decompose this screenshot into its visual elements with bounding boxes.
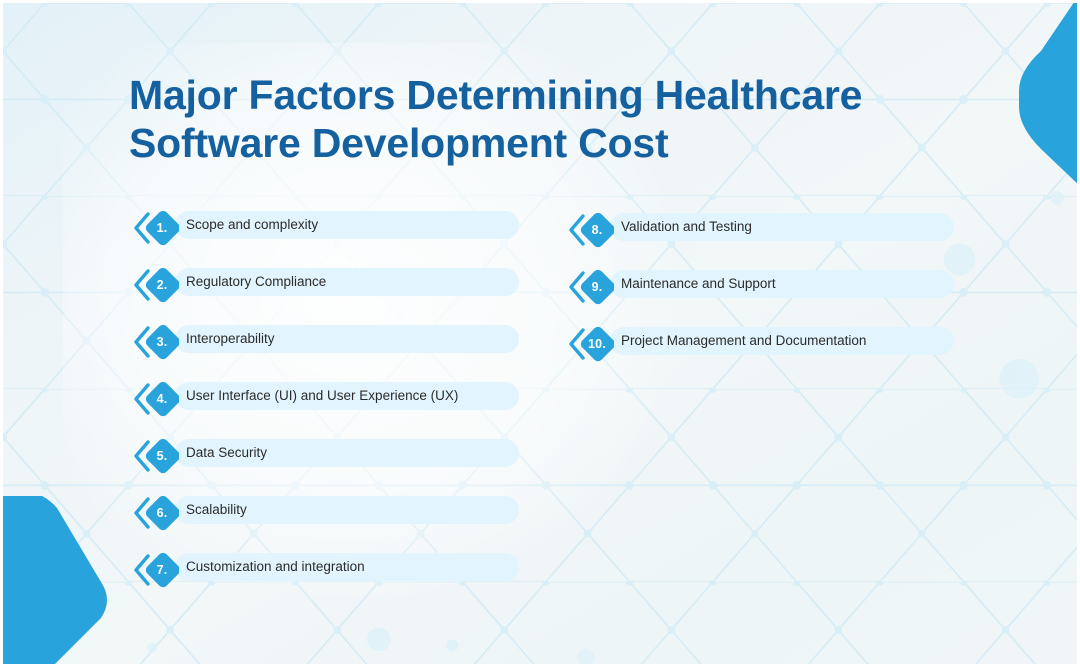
factor-list-right-column: 8. Validation and Testing 9. Maintenance…: [566, 210, 954, 381]
list-item-number: 5.: [145, 436, 179, 476]
list-item[interactable]: 8. Validation and Testing: [566, 210, 954, 244]
list-item-label: Maintenance and Support: [621, 270, 776, 298]
list-item-label: Interoperability: [186, 325, 275, 353]
list-item[interactable]: 7. Customization and integration: [131, 550, 519, 584]
list-item-number: 4.: [145, 379, 179, 419]
list-item-marker: 2.: [131, 265, 179, 305]
list-item-label: Scope and complexity: [186, 211, 318, 239]
list-item-label: Project Management and Documentation: [621, 327, 866, 355]
list-item-number: 7.: [145, 550, 179, 590]
list-item[interactable]: 5. Data Security: [131, 436, 519, 470]
list-item-marker: 9.: [566, 267, 614, 307]
list-item-marker: 7.: [131, 550, 179, 590]
page-title-line-1: Major Factors Determining Healthcare: [129, 71, 969, 119]
factor-list-left-column: 1. Scope and complexity 2. Regulatory Co…: [131, 208, 519, 607]
list-item-number: 1.: [145, 208, 179, 248]
list-item[interactable]: 1. Scope and complexity: [131, 208, 519, 242]
infographic-canvas: Major Factors Determining Healthcare Sof…: [0, 0, 1080, 667]
list-item-label: Customization and integration: [186, 553, 365, 581]
list-item-label: Regulatory Compliance: [186, 268, 326, 296]
list-item-marker: 5.: [131, 436, 179, 476]
list-item-marker: 6.: [131, 493, 179, 533]
list-item-marker: 10.: [566, 324, 614, 364]
list-item[interactable]: 9. Maintenance and Support: [566, 267, 954, 301]
corner-decoration-top-right: [963, 0, 1080, 195]
list-item[interactable]: 3. Interoperability: [131, 322, 519, 356]
list-item-number: 2.: [145, 265, 179, 305]
page-title-line-2: Software Development Cost: [129, 119, 969, 167]
list-item[interactable]: 2. Regulatory Compliance: [131, 265, 519, 299]
list-item[interactable]: 10. Project Management and Documentation: [566, 324, 954, 358]
list-item-number: 8.: [580, 210, 614, 250]
list-item-marker: 3.: [131, 322, 179, 362]
list-item-marker: 1.: [131, 208, 179, 248]
list-item-marker: 8.: [566, 210, 614, 250]
list-item-label: User Interface (UI) and User Experience …: [186, 382, 458, 410]
list-item-marker: 4.: [131, 379, 179, 419]
corner-decoration-bottom-left: [0, 496, 119, 667]
list-item-label: Validation and Testing: [621, 213, 752, 241]
list-item-number: 10.: [580, 324, 614, 364]
list-item-label: Data Security: [186, 439, 267, 467]
list-item[interactable]: 6. Scalability: [131, 493, 519, 527]
list-item-number: 6.: [145, 493, 179, 533]
list-item-number: 3.: [145, 322, 179, 362]
list-item-number: 9.: [580, 267, 614, 307]
list-item-label: Scalability: [186, 496, 247, 524]
list-item[interactable]: 4. User Interface (UI) and User Experien…: [131, 379, 519, 413]
page-title: Major Factors Determining Healthcare Sof…: [129, 71, 969, 167]
